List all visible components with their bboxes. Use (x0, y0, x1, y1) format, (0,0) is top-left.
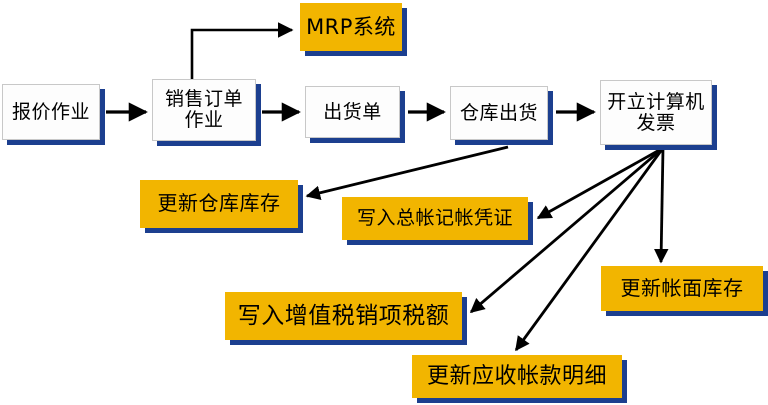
node-label-warehouse-ship: 仓库出货 (451, 103, 547, 124)
node-write-gl-voucher[interactable]: 写入总帐记帐凭证 (342, 197, 528, 240)
edge-issue-invoice-to-update-book-stock (661, 148, 663, 262)
node-warehouse-ship[interactable]: 仓库出货 (450, 86, 548, 140)
edge-issue-invoice-to-write-gl-voucher (538, 148, 663, 218)
edge-sales-order-to-mrp (192, 30, 292, 86)
node-label-write-vat-output-tax: 写入增值税销项税额 (226, 304, 461, 329)
node-label-update-book-stock: 更新帐面库存 (602, 278, 762, 300)
node-label-delivery-note: 出货单 (306, 102, 399, 123)
node-update-warehouse-stock[interactable]: 更新仓库库存 (140, 180, 298, 228)
node-label-mrp-system: MRP系统 (301, 16, 401, 39)
node-mrp-system[interactable]: MRP系统 (300, 3, 402, 51)
node-label-update-warehouse-stock: 更新仓库库存 (141, 193, 297, 215)
node-delivery-note[interactable]: 出货单 (305, 86, 400, 138)
edge-issue-invoice-to-update-ar-detail (516, 148, 663, 350)
node-write-vat-output-tax[interactable]: 写入增值税销项税额 (225, 292, 462, 340)
edge-warehouse-ship-to-update-warehouse-stock (307, 147, 508, 196)
node-sales-order[interactable]: 销售订单 作业 (152, 79, 256, 141)
node-label-write-gl-voucher: 写入总帐记帐凭证 (343, 208, 527, 229)
node-issue-invoice[interactable]: 开立计算机 发票 (600, 80, 712, 145)
node-label-quotation: 报价作业 (3, 102, 99, 123)
node-label-sales-order: 销售订单 作业 (153, 89, 255, 130)
node-quotation[interactable]: 报价作业 (2, 84, 100, 140)
flowchart-canvas: 报价作业销售订单 作业MRP系统出货单仓库出货开立计算机 发票更新仓库库存写入总… (0, 0, 768, 405)
node-label-update-ar-detail: 更新应收帐款明细 (413, 365, 621, 389)
node-update-book-stock[interactable]: 更新帐面库存 (601, 266, 763, 311)
node-label-issue-invoice: 开立计算机 发票 (601, 92, 711, 133)
node-update-ar-detail[interactable]: 更新应收帐款明细 (412, 355, 622, 398)
